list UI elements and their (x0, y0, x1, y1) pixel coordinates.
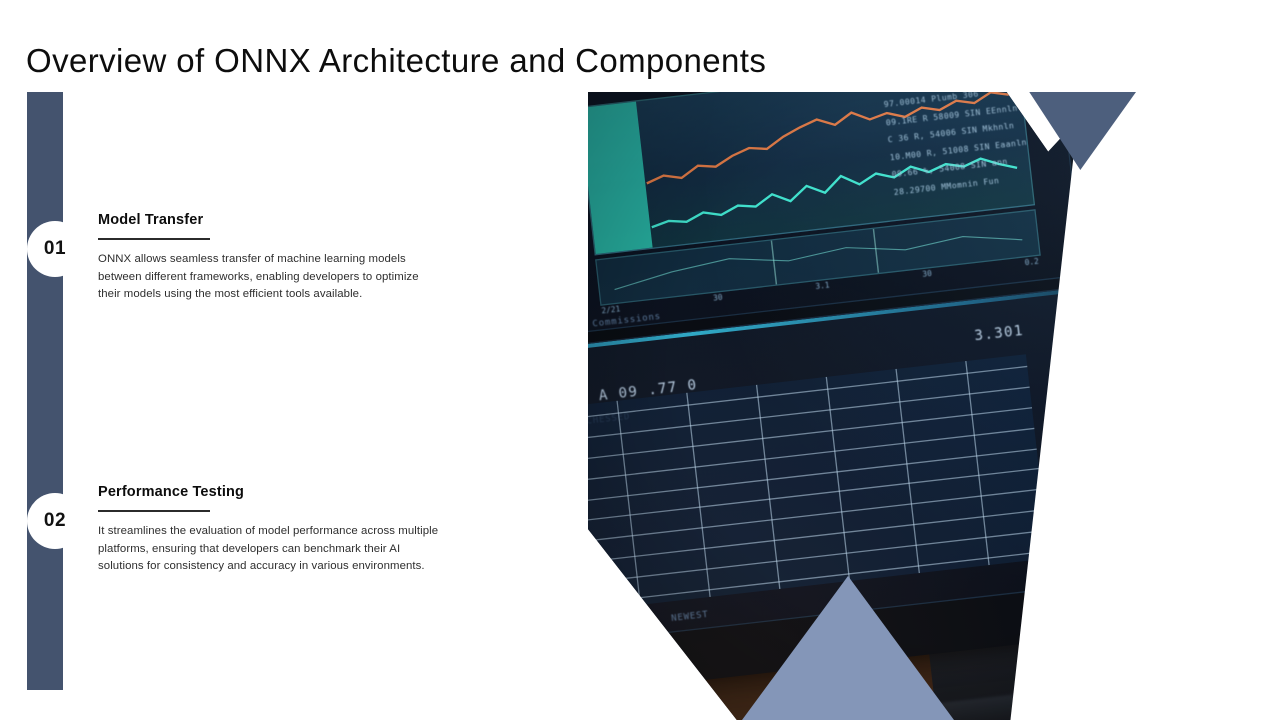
candle (655, 603, 663, 604)
bullet-description: ONNX allows seamless transfer of machine… (98, 251, 443, 304)
price-tick: 6.6200 (1034, 383, 1096, 398)
stat-line: 28.29700 MMomnin Fun (893, 169, 1061, 197)
candle (1027, 560, 1035, 561)
orange-bars-series (1109, 92, 1280, 245)
candle (970, 567, 978, 568)
candle (941, 570, 949, 571)
candle (893, 575, 901, 576)
axis-tick: 2/21 (601, 305, 621, 316)
x-tick: 16:00 (1227, 536, 1247, 546)
panel-accent-strip (588, 287, 1094, 361)
stat-line: 09.1RE R 58009 SIN EEnnln (885, 100, 1053, 128)
candle (760, 591, 768, 592)
pink-chart-series (1122, 324, 1280, 529)
stat-list: ARGUE % 56009 MM Fhanain RANGE % 06403 S… (878, 92, 1062, 206)
orange-bar (1237, 131, 1261, 231)
stat-line: 97.00014 Plumb 306 (883, 92, 1051, 110)
photo-vignette (588, 92, 1280, 720)
pink-chart-value-price: S.1.2.08.09 (1240, 336, 1280, 367)
desk-surface (588, 571, 1280, 720)
orange-bar (1186, 171, 1206, 237)
candle (722, 595, 730, 596)
orange-bars-label: 02 (1119, 182, 1133, 194)
bullet-description: It streamlines the evaluation of model p… (98, 523, 443, 576)
stat-line: 432 60 % 64008 SIN 2Emnlns (881, 92, 1049, 93)
slide-root: Overview of ONNX Architecture and Compon… (0, 0, 1280, 720)
white-wedge-shape (1010, 92, 1280, 720)
panel-candlestick: REPORT OVERVIEW A 09 .77 0 CHESSED 3.301 (588, 285, 1128, 650)
stat-line: 10.M00 R, 51008 SIN Eaanln (889, 135, 1057, 163)
orange-bar (1272, 92, 1280, 227)
price-tick: 6.5600 (1043, 468, 1105, 483)
axis-tick: 30 (922, 270, 932, 280)
orange-bar (1121, 201, 1138, 246)
candle (874, 578, 882, 579)
triangle-bottom-shape (742, 576, 954, 720)
candle (827, 583, 835, 584)
candle (731, 594, 739, 595)
price-tick: 6.5300 (1048, 511, 1110, 526)
candle (712, 596, 720, 597)
panel-orange-bars: 02 (1082, 92, 1280, 273)
monitor-photo: SCORES A TOOLS INFO INFOS 4.13 (588, 92, 1280, 720)
monitor-stand (924, 594, 1044, 720)
candle (884, 576, 892, 577)
candle (817, 584, 825, 585)
bullet-heading: Model Transfer (98, 212, 458, 229)
screen-glare (588, 92, 1280, 720)
bullet-number-badge: 01 (27, 221, 83, 277)
photo-composition: SCORES A TOOLS INFO INFOS 4.13 (0, 0, 1280, 720)
panel-accent-strip (1092, 234, 1280, 277)
candle (846, 581, 854, 582)
price-tick: 6.6400 (1030, 355, 1092, 370)
candles-axis-label: NEWEST (671, 609, 709, 624)
left-accent-bar (27, 92, 63, 690)
orange-bar (1196, 139, 1219, 236)
candles-ticker: OVERVIEW A 09 .77 0 (588, 376, 698, 414)
candle (1008, 562, 1016, 563)
chart-band-fill (588, 101, 653, 254)
price-tick: 6.5500 (1045, 483, 1107, 498)
x-tick: 14:00 (1185, 540, 1205, 550)
pink-chart-x-axis: 12:00 14:00 16:00 18:00 20:00 22:00 00:0… (1144, 512, 1280, 555)
candle (779, 588, 787, 589)
bullet-divider (98, 510, 210, 512)
top-chart-minimap (596, 209, 1041, 306)
candle (932, 571, 940, 572)
candle (960, 568, 968, 569)
price-tick: 6.6100 (1035, 397, 1097, 412)
pink-chart-tabs: OVERVIEW ALERTS IL AD COMPARISONS (1114, 280, 1280, 323)
candle (998, 563, 1006, 564)
price-tick: 6.5700 (1042, 454, 1104, 469)
candle (693, 598, 701, 599)
panel-pink-chart: RIO X S MORE MEDIAN OVERVIEW ALERTS IL A… (1090, 233, 1280, 568)
pink-chart-plot (1122, 324, 1280, 529)
tab-item[interactable]: OVERVIEW (1114, 312, 1149, 324)
price-tick: 6.5800 (1040, 440, 1102, 455)
triangle-top-right-shape (1020, 92, 1136, 170)
price-tick: 6.6300 (1032, 369, 1094, 384)
minimap-series (597, 210, 1039, 304)
tab-item[interactable]: COMPARISONS (1242, 295, 1280, 308)
pink-chart-value-top: 700 (1181, 319, 1216, 343)
price-tick: 6.5400 (1047, 497, 1109, 512)
monitor-screen: SCORES A TOOLS INFO INFOS 4.13 (588, 92, 1280, 699)
panel-top-chart: SCORES A TOOLS INFO INFOS 4.13 (588, 92, 1084, 335)
candle (922, 572, 930, 573)
axis-tick: 3.1 (815, 281, 830, 292)
candle (636, 605, 644, 606)
candle (989, 565, 997, 566)
candlestick-plot (588, 354, 1050, 612)
orange-bar (1246, 92, 1274, 229)
orange-bar (1222, 120, 1247, 233)
candle (683, 599, 691, 600)
orange-bar (1261, 106, 1280, 228)
stat-line: C 36 R, 54006 SIN Mkhnln (887, 117, 1055, 145)
candles-subheader: CHESSED (588, 411, 631, 426)
candle (807, 585, 815, 586)
candle (597, 609, 605, 610)
price-tick: 6.6000 (1037, 412, 1099, 427)
candle (1017, 561, 1025, 562)
monitor-base (819, 676, 1180, 720)
x-tick: 12:00 (1144, 545, 1164, 555)
stat-line: 09.66 %, 54008 SIN ann (891, 152, 1059, 180)
bullet-body: Performance Testing It streamlines the e… (98, 484, 458, 576)
bullet-divider (98, 238, 210, 240)
orange-bar (1161, 188, 1179, 240)
candle (607, 608, 615, 609)
pink-chart-value-bottom: 2.00 (1266, 451, 1280, 475)
candles-value-badge: 3.301 (973, 321, 1024, 343)
tab-item[interactable]: IL AD (1205, 303, 1227, 313)
candle (979, 566, 987, 567)
orange-bar (1146, 179, 1165, 242)
candle (951, 569, 959, 570)
candle (855, 580, 863, 581)
candle (788, 587, 796, 588)
price-tick: 6.6500 (1029, 340, 1091, 355)
candle (836, 582, 844, 583)
candle (674, 600, 682, 601)
top-chart-series (588, 92, 1034, 254)
page-title: Overview of ONNX Architecture and Compon… (26, 42, 1126, 80)
x-tick: 18:00 (1268, 531, 1280, 541)
bullet-heading: Performance Testing (98, 484, 458, 501)
top-chart-axis: 2/21 30 3.1 30 0.2 (601, 257, 1039, 316)
room-backdrop (588, 92, 1280, 720)
candle (865, 579, 873, 580)
axis-tick: 0.2 (1024, 257, 1039, 268)
pink-chart-subheader: MORE MEDIAN (1113, 296, 1183, 314)
candle (798, 586, 806, 587)
top-chart-plot (588, 92, 1035, 256)
candle (769, 590, 777, 591)
orange-bar (1136, 208, 1152, 243)
top-chart-footer-label: Commissions (592, 311, 662, 329)
pink-chart-header: RIO X S (1111, 281, 1182, 306)
orange-bar (1172, 164, 1193, 240)
photo-inner: SCORES A TOOLS INFO INFOS 4.13 (588, 92, 1280, 720)
candle (645, 604, 653, 605)
candle (741, 593, 749, 594)
candlestick-series (588, 354, 1050, 612)
candle (664, 602, 672, 603)
candle (702, 597, 710, 598)
orange-bar (1211, 148, 1233, 234)
pink-chart-low-label: LO (1145, 491, 1157, 503)
axis-tick: 30 (713, 293, 723, 303)
candle (912, 573, 920, 574)
price-tick: 6.5900 (1039, 426, 1101, 441)
bullet-number-badge: 02 (27, 493, 83, 549)
candle (617, 607, 625, 608)
candles-price-axis: 6.65006.64006.63006.62006.61006.60006.59… (1029, 340, 1111, 532)
candle (903, 574, 911, 575)
bullet-body: Model Transfer ONNX allows seamless tran… (98, 212, 458, 304)
candle (750, 592, 758, 593)
pink-chart-cpu-label: CPU (1128, 342, 1146, 354)
candle (626, 606, 634, 607)
tab-item[interactable]: ALERTS (1164, 307, 1191, 318)
